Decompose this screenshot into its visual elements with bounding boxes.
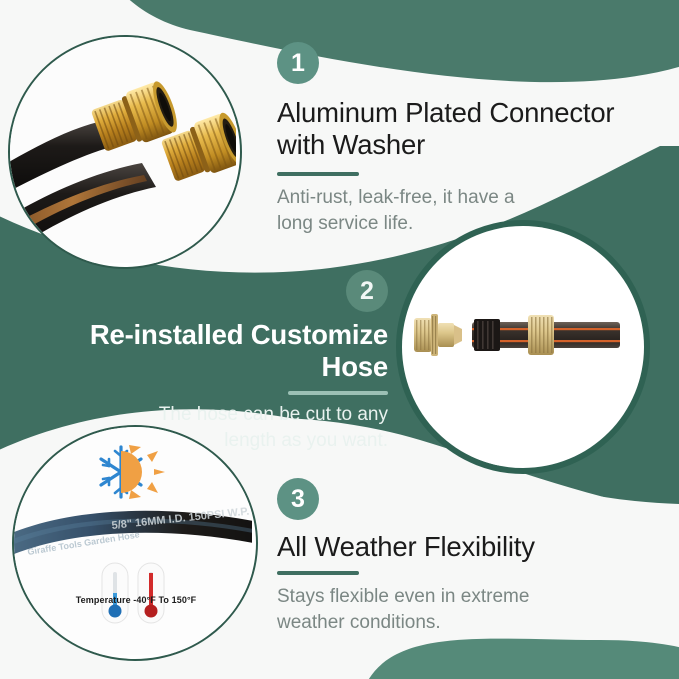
coupling-hose-assembly: [472, 315, 620, 355]
feature-3-heading: All Weather Flexibility: [277, 531, 667, 563]
temperature-caption: Temperature -40°F To 150°F: [57, 595, 215, 605]
connectors-illustration: [10, 37, 236, 263]
thermometer-cold-icon: [102, 563, 128, 623]
thermometer-hot-icon: [138, 563, 164, 623]
feature-3-divider: [277, 571, 359, 575]
feature-1-number-badge: 1: [277, 42, 319, 84]
feature-block-3: 3 All Weather Flexibility Stays flexible…: [277, 478, 667, 636]
product-photo-connectors: [8, 35, 242, 269]
feature-3-number-badge: 3: [277, 478, 319, 520]
feature-1-divider: [277, 172, 359, 176]
product-photo-coupling: [400, 255, 646, 439]
feature-1-heading: Aluminum Plated Connector with Washer: [277, 97, 667, 162]
feature-2-divider: [288, 391, 388, 395]
coupling-male-fitting: [414, 314, 462, 356]
feature-3-subtext: Stays flexible even in extreme weather c…: [277, 584, 667, 635]
feature-2-subtext: The hose can be cut to any length as you…: [20, 402, 388, 453]
feature-2-number-badge: 2: [346, 270, 388, 312]
coupling-illustration: [400, 255, 646, 439]
feature-block-1: 1 Aluminum Plated Connector with Washer …: [277, 42, 667, 236]
product-photo-weather: 5/8" 16MM I.D. 150PSI W.P. Giraffe Tools…: [12, 425, 258, 661]
product-feature-infographic: 5/8" 16MM I.D. 150PSI W.P. Giraffe Tools…: [0, 0, 679, 679]
feature-block-2: 2 Re-installed Customize Hose The hose c…: [20, 270, 388, 453]
weather-illustration: 5/8" 16MM I.D. 150PSI W.P. Giraffe Tools…: [14, 427, 252, 655]
feature-1-subtext: Anti-rust, leak-free, it have a long ser…: [277, 185, 667, 236]
feature-2-heading: Re-installed Customize Hose: [20, 319, 388, 384]
